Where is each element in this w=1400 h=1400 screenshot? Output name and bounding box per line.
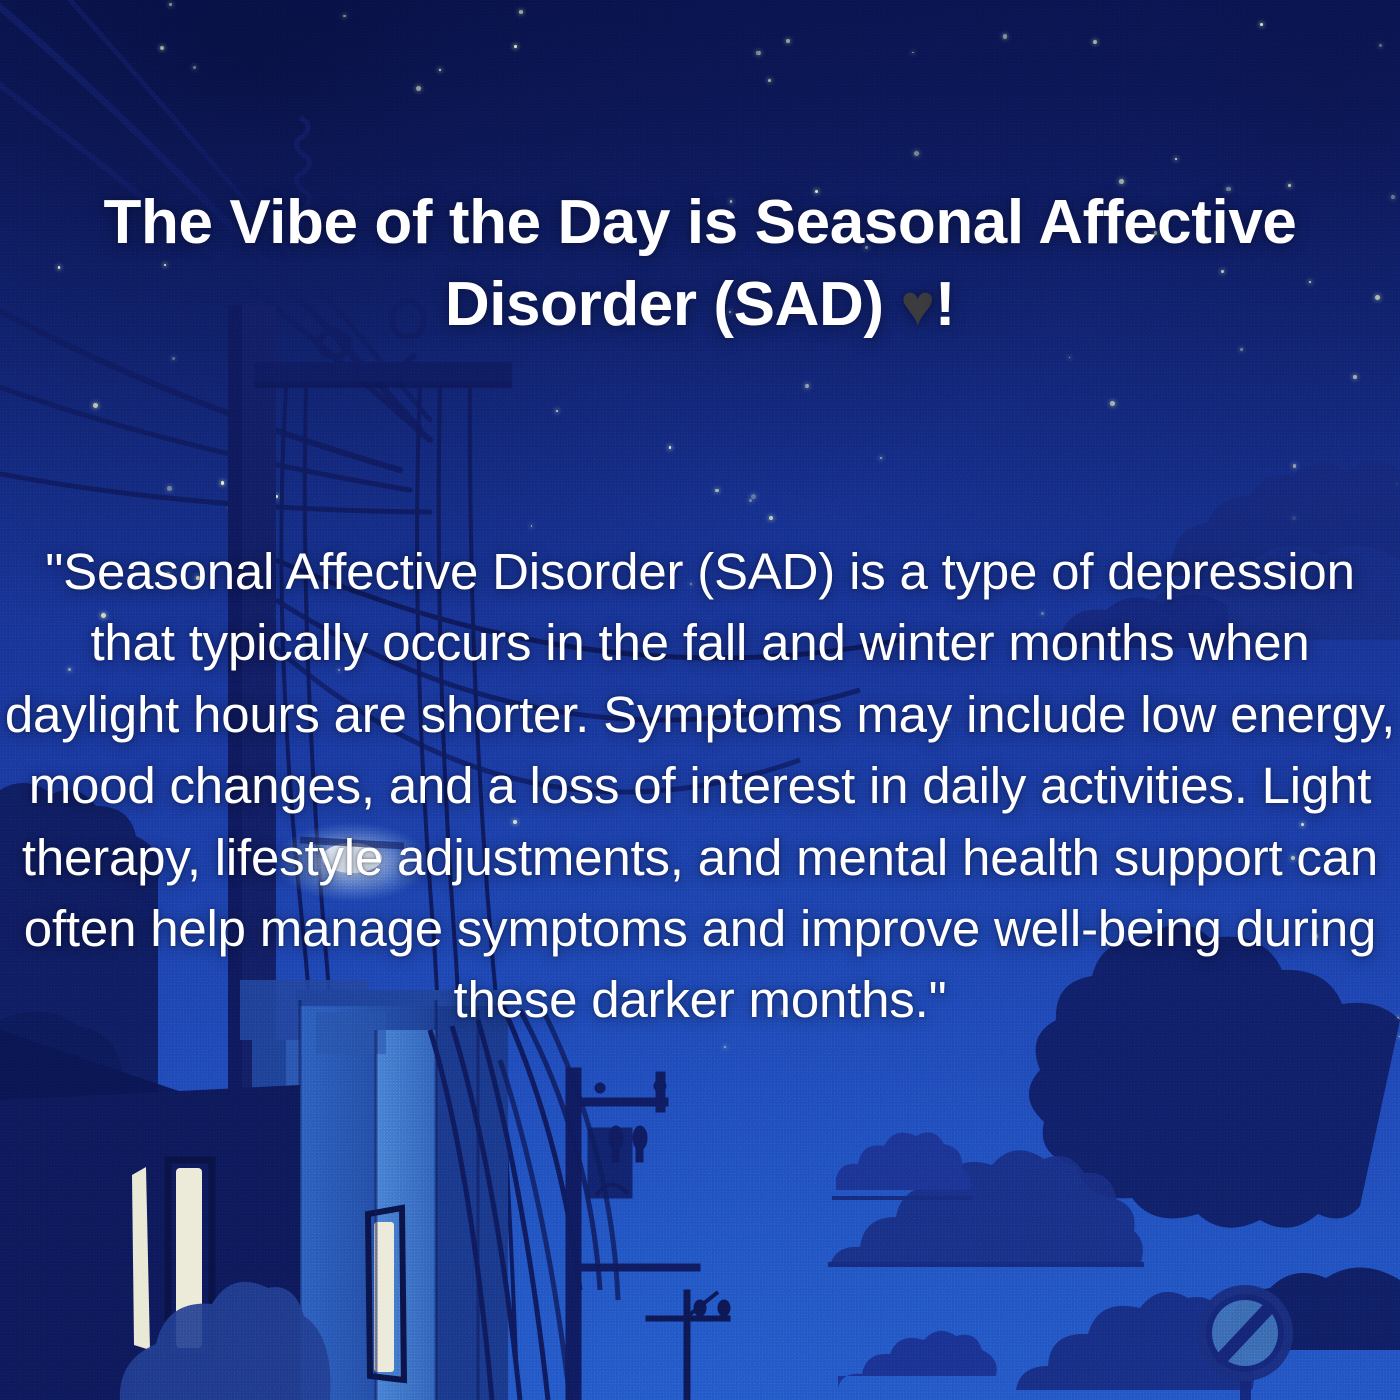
page-title-text: The Vibe of the Day is Seasonal Affectiv… (104, 188, 1297, 339)
poster-canvas: The Vibe of the Day is Seasonal Affectiv… (0, 0, 1400, 1400)
body-quote-text: "Seasonal Affective Disorder (SAD) is a … (4, 536, 1396, 1036)
page-title: The Vibe of the Day is Seasonal Affectiv… (50, 182, 1350, 347)
black-heart-icon: ♥ (900, 273, 934, 338)
page-title-exclaim: ! (935, 270, 955, 339)
